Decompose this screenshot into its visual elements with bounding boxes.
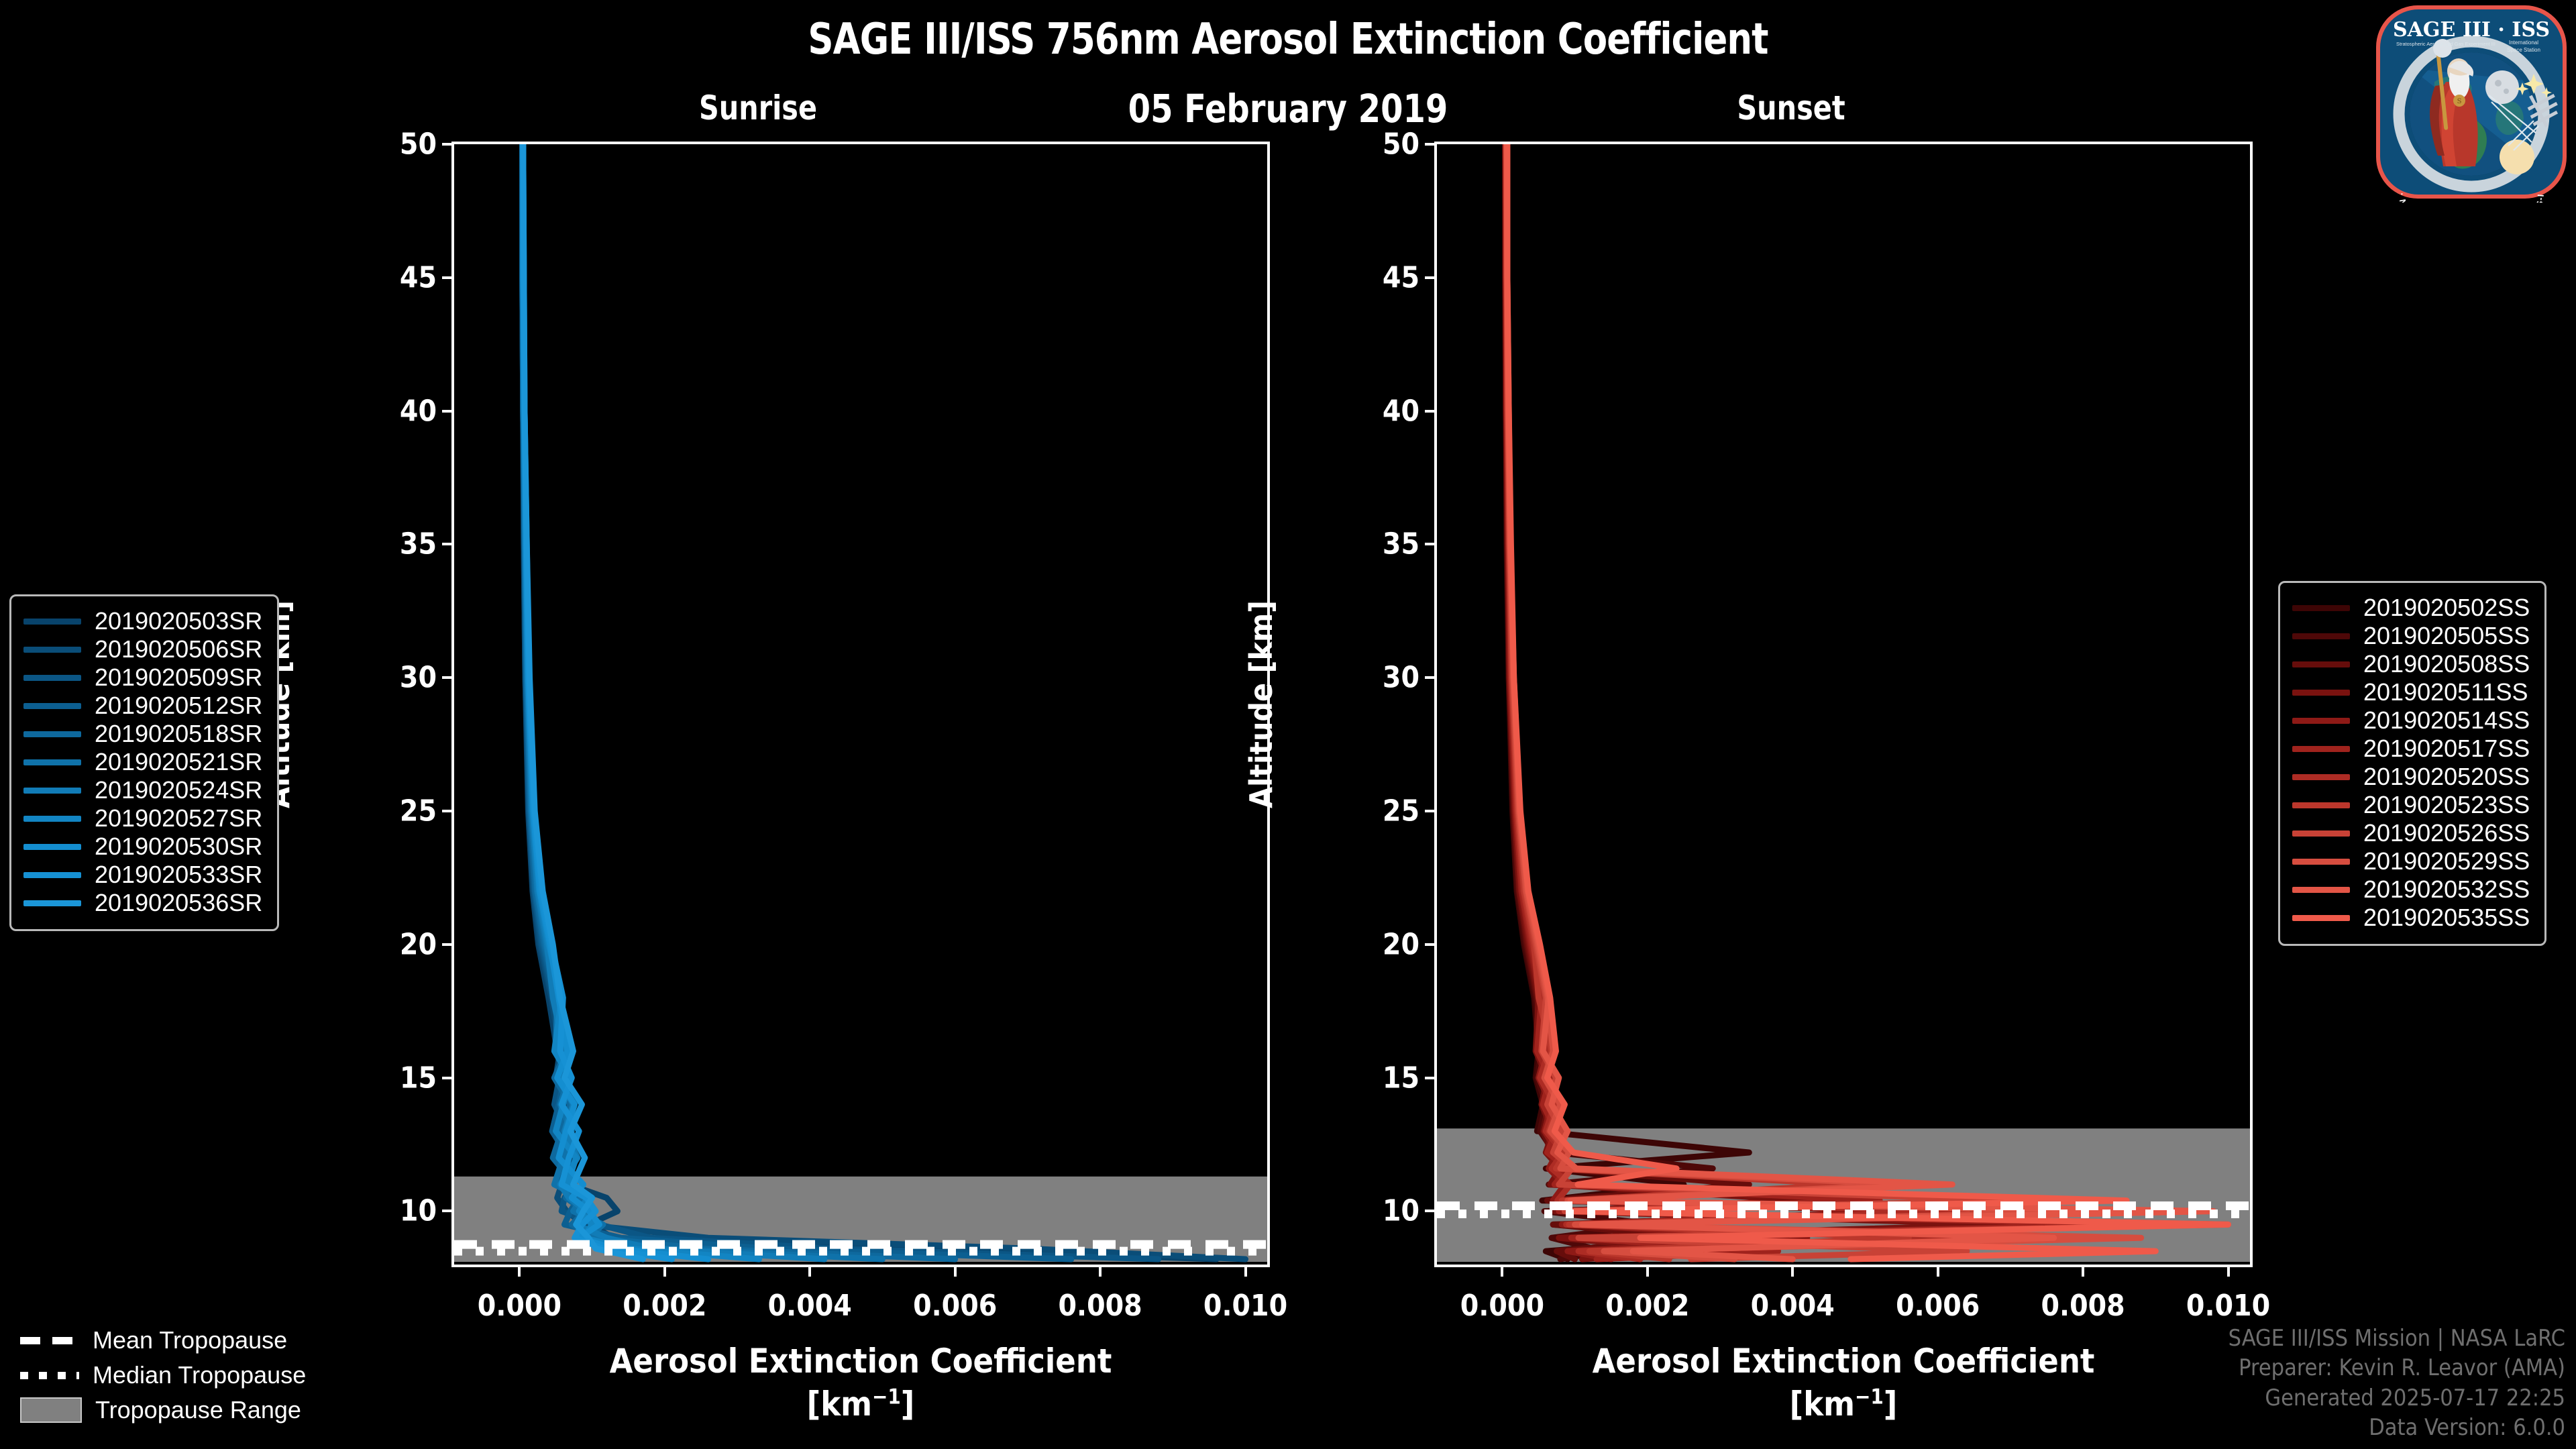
legend-color-swatch (2292, 859, 2350, 865)
legend-series-label: 2019020518SR (95, 720, 262, 748)
legend-item-2019020535SS[interactable]: 2019020535SS (2292, 904, 2530, 932)
legend-label-median: Median Tropopause (93, 1361, 306, 1389)
legend-color-swatch (2292, 633, 2350, 639)
legend-series-label: 2019020505SS (2363, 622, 2530, 650)
y-axis-title-sunset: Altitude [km] (1243, 600, 1279, 808)
legend-item-2019020529SS[interactable]: 2019020529SS (2292, 847, 2530, 875)
x-axis-title-units: [km−1] (451, 1383, 1270, 1426)
legend-color-swatch (2292, 830, 2350, 837)
legend-series-label: 2019020514SS (2363, 706, 2530, 735)
legend-item-2019020527SR[interactable]: 2019020527SR (23, 804, 262, 833)
legend-item-2019020518SR[interactable]: 2019020518SR (23, 720, 262, 748)
legend-tropopause: Mean Tropopause Median Tropopause Tropop… (20, 1323, 306, 1428)
y-tick-label: 50 (400, 127, 437, 162)
x-tick-label: 0.010 (1203, 1289, 1287, 1323)
y-tick-label: 25 (400, 794, 437, 828)
plot-area-sunset (1437, 144, 2250, 1265)
plot-panel-sunset[interactable]: 1015202530354045500.0000.0020.0040.0060.… (1434, 142, 2253, 1267)
legend-series-label: 2019020529SS (2363, 847, 2530, 875)
series-line (523, 144, 1217, 1259)
credits-line: Preparer: Kevin R. Leavor (AMA) (2229, 1353, 2565, 1383)
x-tick-mark (663, 1265, 666, 1277)
legend-series-label: 2019020526SS (2363, 819, 2530, 847)
legend-color-swatch (23, 675, 81, 681)
legend-series-label: 2019020535SS (2363, 904, 2530, 932)
series-line (1505, 144, 1938, 1259)
x-tick-mark (954, 1265, 957, 1277)
profile-lines-sunrise (454, 144, 1267, 1265)
legend-series-label: 2019020527SR (95, 804, 262, 833)
legend-color-swatch (2292, 661, 2350, 667)
series-line (1507, 144, 2141, 1259)
y-tick-label: 30 (1383, 661, 1419, 695)
x-tick-mark (1791, 1265, 1794, 1277)
y-tick-label: 50 (1383, 127, 1419, 162)
series-line (523, 144, 1159, 1259)
y-tick-mark (442, 1210, 454, 1212)
x-tick-mark (808, 1265, 811, 1277)
y-tick-mark (442, 676, 454, 679)
legend-series-label: 2019020503SR (95, 607, 262, 635)
x-tick-label: 0.010 (2186, 1289, 2270, 1323)
legend-item-2019020506SR[interactable]: 2019020506SR (23, 635, 262, 663)
legend-series-label: 2019020536SR (95, 889, 262, 917)
y-tick-mark (1425, 810, 1437, 812)
legend-color-swatch (2292, 915, 2350, 921)
legend-item-2019020517SS[interactable]: 2019020517SS (2292, 735, 2530, 763)
x-tick-label: 0.008 (2041, 1289, 2125, 1323)
y-tick-label: 40 (1383, 394, 1419, 428)
x-tick-label: 0.000 (1460, 1289, 1544, 1323)
y-tick-mark (442, 810, 454, 812)
dashed-line-icon (20, 1337, 79, 1344)
y-tick-label: 35 (400, 527, 437, 561)
x-tick-mark (2082, 1265, 2084, 1277)
series-line (523, 144, 955, 1259)
legend-color-swatch (23, 844, 81, 850)
page-title: SAGE III/ISS 756nm Aerosol Extinction Co… (103, 15, 2473, 64)
x-tick-mark (2227, 1265, 2230, 1277)
plot-panel-sunrise[interactable]: 1015202530354045500.0000.0020.0040.0060.… (451, 142, 1270, 1267)
legend-series-label: 2019020524SR (95, 776, 262, 804)
y-tick-mark (1425, 276, 1437, 279)
legend-color-swatch (23, 788, 81, 794)
legend-series-label: 2019020517SS (2363, 735, 2530, 763)
legend-series-label: 2019020512SR (95, 692, 262, 720)
x-tick-label: 0.002 (1605, 1289, 1689, 1323)
legend-series-label: 2019020509SR (95, 663, 262, 692)
legend-series-label: 2019020521SR (95, 748, 262, 776)
x-tick-label: 0.008 (1058, 1289, 1142, 1323)
legend-series-label: 2019020530SR (95, 833, 262, 861)
x-tick-mark (1646, 1265, 1649, 1277)
x-tick-label: 0.006 (913, 1289, 997, 1323)
legend-item-2019020503SR[interactable]: 2019020503SR (23, 607, 262, 635)
series-line (1507, 144, 2229, 1259)
legend-item-2019020512SR[interactable]: 2019020512SR (23, 692, 262, 720)
y-tick-mark (442, 143, 454, 146)
legend-label-mean: Mean Tropopause (93, 1326, 287, 1354)
y-tick-mark (442, 543, 454, 545)
series-line (523, 144, 708, 1259)
series-line (523, 144, 643, 1259)
x-tick-mark (1244, 1265, 1247, 1277)
legend-item-2019020526SS[interactable]: 2019020526SS (2292, 819, 2530, 847)
series-line (1506, 144, 2141, 1259)
x-tick-mark (1501, 1265, 1503, 1277)
legend-color-swatch (23, 900, 81, 906)
legend-color-swatch (23, 759, 81, 765)
legend-item-2019020536SR[interactable]: 2019020536SR (23, 889, 262, 917)
y-tick-mark (1425, 410, 1437, 413)
legend-item-2019020521SR[interactable]: 2019020521SR (23, 748, 262, 776)
patch-title: SAGE III · ISS (2393, 18, 2550, 42)
legend-item-2019020502SS[interactable]: 2019020502SS (2292, 594, 2530, 622)
legend-series-label: 2019020533SR (95, 861, 262, 889)
legend-series-label: 2019020502SS (2363, 594, 2530, 622)
series-line (523, 144, 1246, 1259)
y-tick-mark (1425, 543, 1437, 545)
legend-item-2019020505SS[interactable]: 2019020505SS (2292, 622, 2530, 650)
series-line (1505, 144, 2083, 1259)
credits-line: Generated 2025-07-17 22:25 (2229, 1383, 2565, 1413)
legend-color-swatch (2292, 690, 2350, 696)
y-tick-label: 10 (1383, 1194, 1419, 1228)
legend-color-swatch (23, 731, 81, 737)
legend-series-label: 2019020506SR (95, 635, 262, 663)
x-tick-mark (1099, 1265, 1102, 1277)
legend-color-swatch (23, 647, 81, 653)
legend-item-median-tropopause: Median Tropopause (20, 1358, 306, 1393)
x-axis-title-main: Aerosol Extinction Coefficient (1434, 1340, 2253, 1383)
y-tick-label: 35 (1383, 527, 1419, 561)
y-tick-label: 15 (1383, 1061, 1419, 1095)
x-tick-label: 0.002 (623, 1289, 706, 1323)
legend-series-label: 2019020508SS (2363, 650, 2530, 678)
legend-item-2019020511SS[interactable]: 2019020511SS (2292, 678, 2530, 706)
band-swatch-icon (20, 1397, 82, 1423)
legend-item-2019020520SS[interactable]: 2019020520SS (2292, 763, 2530, 791)
x-tick-mark (1937, 1265, 1939, 1277)
patch-subtitle-right-1: International (2509, 40, 2538, 46)
legend-color-swatch (2292, 605, 2350, 611)
legend-color-swatch (23, 703, 81, 709)
y-tick-label: 20 (1383, 927, 1419, 961)
y-tick-label: 30 (400, 661, 437, 695)
credits-line: Data Version: 6.0.0 (2229, 1413, 2565, 1442)
legend-series-label: 2019020532SS (2363, 875, 2530, 904)
legend-color-swatch (23, 816, 81, 822)
legend-item-2019020509SR[interactable]: 2019020509SR (23, 663, 262, 692)
y-tick-label: 15 (400, 1061, 437, 1095)
plot-area-sunrise (454, 144, 1267, 1265)
legend-item-2019020508SS[interactable]: 2019020508SS (2292, 650, 2530, 678)
legend-series-label: 2019020511SS (2363, 678, 2528, 706)
x-axis-title-sunrise: Aerosol Extinction Coefficient [km−1] (451, 1340, 1270, 1426)
y-tick-mark (1425, 1210, 1437, 1212)
legend-color-swatch (2292, 774, 2350, 780)
legend-color-swatch (2292, 718, 2350, 724)
legend-sunrise[interactable]: 2019020503SR2019020506SR2019020509SR2019… (9, 594, 279, 931)
legend-item-2019020532SS[interactable]: 2019020532SS (2292, 875, 2530, 904)
legend-color-swatch (2292, 802, 2350, 808)
legend-color-swatch (2292, 887, 2350, 893)
y-tick-mark (1425, 676, 1437, 679)
y-tick-mark (1425, 1077, 1437, 1079)
x-axis-title-sunset: Aerosol Extinction Coefficient [km−1] (1434, 1340, 2253, 1426)
legend-series-label: 2019020523SS (2363, 791, 2530, 819)
legend-sunset[interactable]: 2019020502SS2019020505SS2019020508SS2019… (2278, 581, 2546, 946)
sage-iii-iss-mission-patch-logo: S SAGE III · ISS Stratospheric Aerosol a… (2371, 1, 2572, 203)
series-line (1507, 144, 2229, 1259)
credits-line: SAGE III/ISS Mission | NASA LaRC (2229, 1324, 2565, 1353)
y-tick-label: 10 (400, 1194, 437, 1228)
y-tick-label: 25 (1383, 794, 1419, 828)
y-tick-mark (1425, 143, 1437, 146)
series-line (1507, 144, 2170, 1259)
x-tick-mark (518, 1265, 521, 1277)
legend-color-swatch (2292, 746, 2350, 752)
x-tick-label: 0.000 (478, 1289, 561, 1323)
y-tick-mark (442, 943, 454, 946)
series-line (1506, 144, 1909, 1259)
patch-subtitle-right-2: Space Station (2507, 47, 2540, 53)
x-axis-title-main: Aerosol Extinction Coefficient (451, 1340, 1270, 1383)
y-tick-mark (442, 1077, 454, 1079)
legend-item-2019020514SS[interactable]: 2019020514SS (2292, 706, 2530, 735)
y-tick-label: 45 (1383, 260, 1419, 294)
series-line (1506, 144, 2010, 1259)
series-line (523, 144, 672, 1259)
date-subtitle: 05 February 2019 (967, 86, 1609, 131)
legend-label-range: Tropopause Range (95, 1396, 301, 1424)
y-tick-mark (442, 410, 454, 413)
series-line (523, 144, 1071, 1259)
dotted-line-icon (20, 1372, 79, 1379)
x-tick-label: 0.004 (768, 1289, 852, 1323)
legend-color-swatch (23, 619, 81, 625)
panel-subtitle-sunset: Sunset (1649, 89, 1933, 127)
legend-series-label: 2019020520SS (2363, 763, 2530, 791)
legend-item-2019020530SR[interactable]: 2019020530SR (23, 833, 262, 861)
x-tick-label: 0.004 (1751, 1289, 1835, 1323)
y-tick-mark (442, 276, 454, 279)
patch-subtitle-left: Stratospheric Aerosol and Gas Experiment… (2396, 41, 2495, 47)
legend-item-2019020533SR[interactable]: 2019020533SR (23, 861, 262, 889)
legend-color-swatch (23, 872, 81, 878)
legend-item-mean-tropopause: Mean Tropopause (20, 1323, 306, 1358)
series-line (1506, 144, 2010, 1259)
credits-block: SAGE III/ISS Mission | NASA LaRCPreparer… (2229, 1324, 2565, 1442)
x-axis-title-units: [km−1] (1434, 1383, 2253, 1426)
legend-item-tropopause-range: Tropopause Range (20, 1393, 306, 1428)
panel-subtitle-sunrise: Sunrise (616, 89, 900, 127)
legend-item-2019020523SS[interactable]: 2019020523SS (2292, 791, 2530, 819)
y-tick-mark (1425, 943, 1437, 946)
y-tick-label: 40 (400, 394, 437, 428)
y-tick-label: 20 (400, 927, 437, 961)
svg-text:S: S (2457, 98, 2462, 105)
series-line (1507, 144, 2214, 1259)
y-tick-label: 45 (400, 260, 437, 294)
legend-item-2019020524SR[interactable]: 2019020524SR (23, 776, 262, 804)
x-tick-label: 0.006 (1896, 1289, 1980, 1323)
profile-lines-sunset (1437, 144, 2250, 1265)
